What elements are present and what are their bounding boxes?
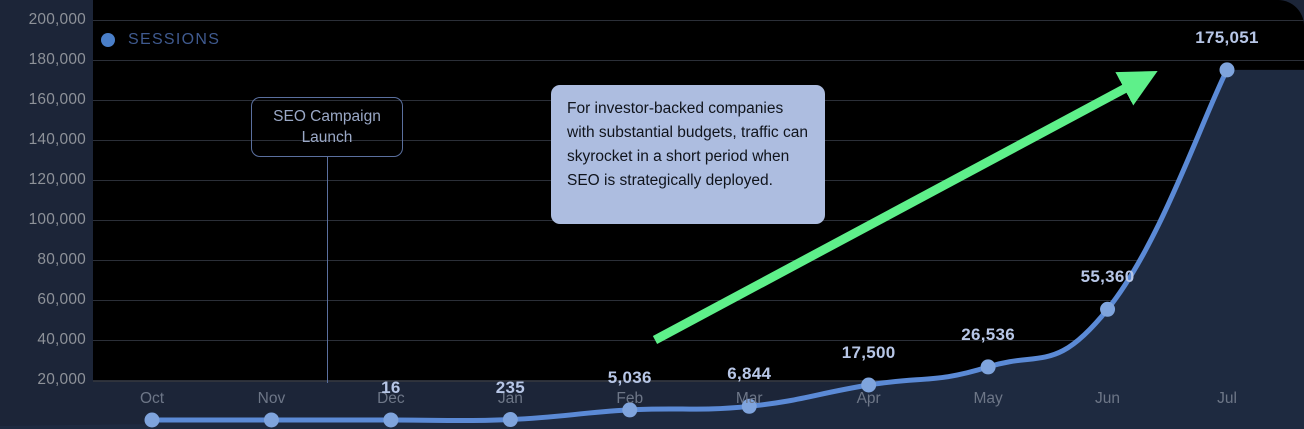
x-axis-tick-label: Nov xyxy=(258,390,286,408)
y-axis-tick-label: 80,000 xyxy=(0,251,86,269)
y-axis-tick-label: 100,000 xyxy=(0,211,86,229)
data-point-label: 16 xyxy=(381,378,401,398)
legend-dot-icon xyxy=(101,33,115,47)
y-axis-tick-label: 120,000 xyxy=(0,171,86,189)
x-axis-tick-label: Oct xyxy=(140,390,164,408)
data-point-label: 235 xyxy=(496,378,525,398)
legend[interactable]: SESSIONS xyxy=(101,31,220,49)
y-axis-tick-label: 60,000 xyxy=(0,291,86,309)
x-axis-tick-label: May xyxy=(973,390,1002,408)
x-axis-tick-label: Apr xyxy=(857,390,881,408)
legend-label: SESSIONS xyxy=(128,31,220,49)
y-axis-tick-label: 200,000 xyxy=(0,11,86,29)
gridline xyxy=(93,260,1304,261)
data-point-label: 26,536 xyxy=(961,325,1015,345)
x-axis-tick-label: Feb xyxy=(616,390,643,408)
seo-campaign-launch-connector xyxy=(327,157,328,383)
y-axis-tick-label: 180,000 xyxy=(0,51,86,69)
sessions-growth-chart: 200,000180,000160,000140,000120,000100,0… xyxy=(0,0,1304,429)
seo-campaign-launch-annotation: SEO Campaign Launch xyxy=(251,97,403,157)
x-axis: OctNovDecJanFebMarAprMayJunJul xyxy=(0,390,1304,420)
gridline xyxy=(93,340,1304,341)
y-axis: 200,000180,000160,000140,000120,000100,0… xyxy=(0,0,86,382)
y-axis-tick-label: 20,000 xyxy=(0,371,86,389)
y-axis-tick-label: 40,000 xyxy=(0,331,86,349)
gridline xyxy=(93,300,1304,301)
x-axis-tick-label: Mar xyxy=(736,390,763,408)
data-point-label: 17,500 xyxy=(842,343,896,363)
x-axis-tick-label: Jun xyxy=(1095,390,1120,408)
y-axis-tick-label: 140,000 xyxy=(0,131,86,149)
x-axis-tick-label: Jul xyxy=(1217,390,1237,408)
data-point-label: 5,036 xyxy=(608,368,652,388)
insight-callout: For investor-backed companies with subst… xyxy=(551,85,825,224)
gridline xyxy=(93,20,1304,21)
axis-baseline xyxy=(93,381,1304,382)
data-point-label: 55,360 xyxy=(1081,267,1135,287)
data-point-label: 6,844 xyxy=(727,364,771,384)
data-point-label: 175,051 xyxy=(1195,28,1259,48)
y-axis-tick-label: 160,000 xyxy=(0,91,86,109)
gridline xyxy=(93,60,1304,61)
